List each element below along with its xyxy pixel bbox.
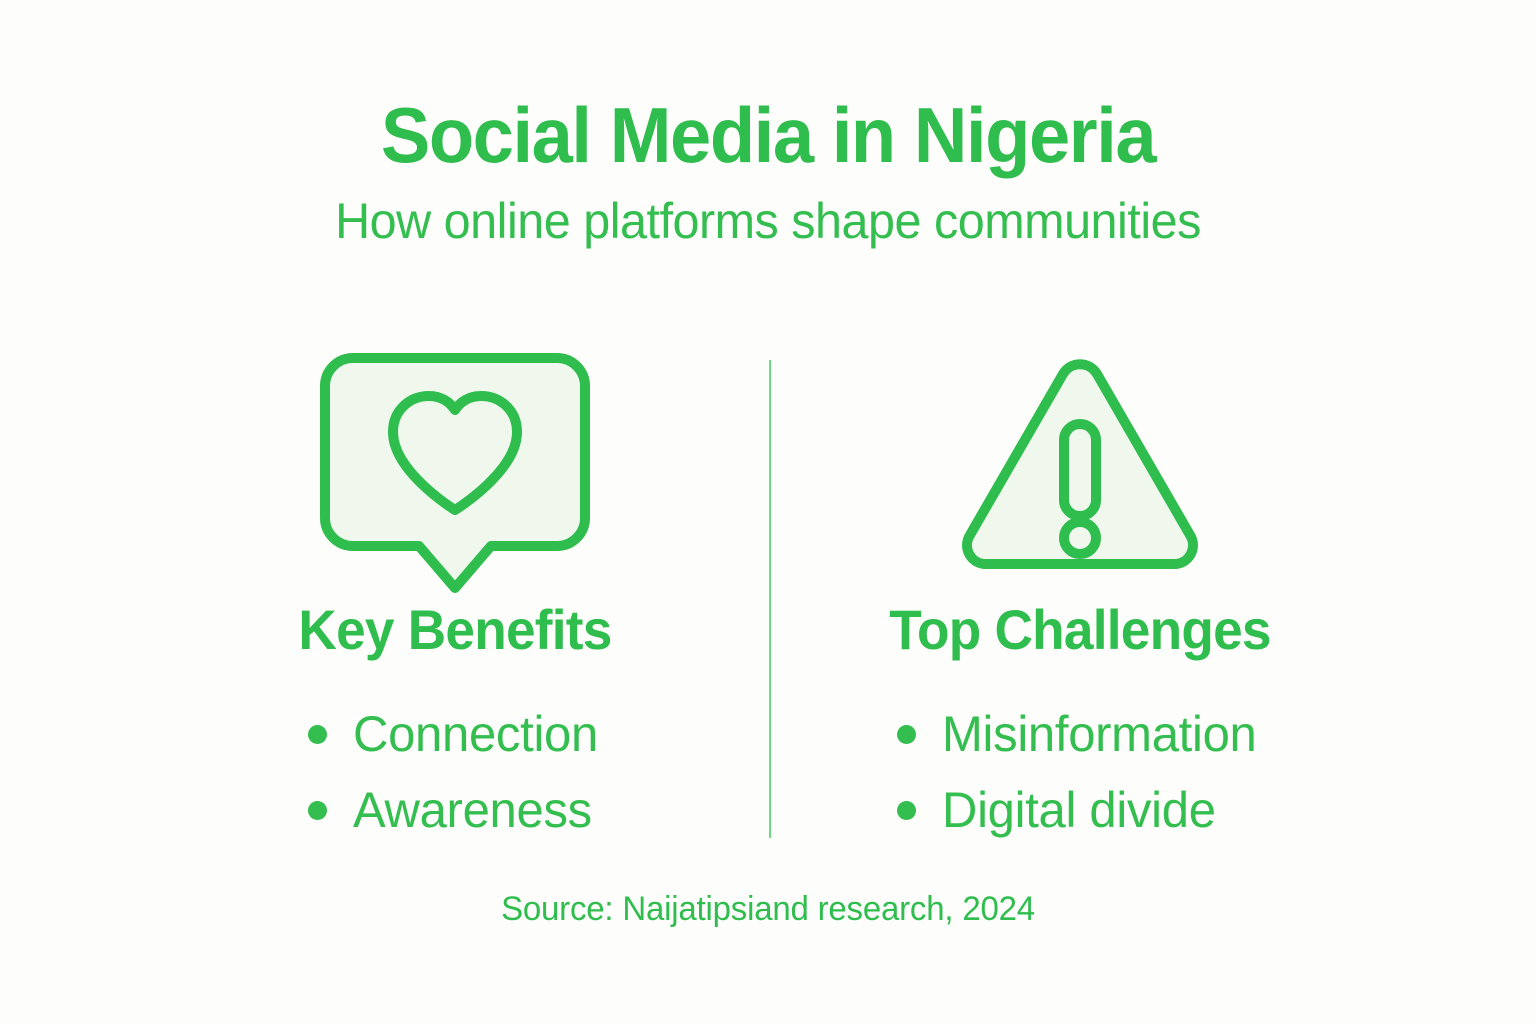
infographic-canvas: Social Media in Nigeria How online platf… [0, 0, 1536, 1024]
list-item-label: Awareness [353, 785, 592, 835]
bullet-dot-icon [897, 801, 916, 820]
benefits-list: Connection Awareness [308, 696, 603, 848]
list-item: Misinformation [897, 696, 1263, 772]
bullet-dot-icon [308, 801, 327, 820]
challenges-list: Misinformation Digital divide [897, 696, 1263, 848]
list-item: Connection [308, 696, 603, 772]
source-citation: Source: Naijatipsiand research, 2024 [23, 890, 1513, 929]
bullet-dot-icon [897, 725, 916, 744]
column-heading-key-benefits: Key Benefits [189, 602, 721, 658]
page-title: Social Media in Nigeria [38, 96, 1497, 174]
header: Social Media in Nigeria How online platf… [0, 96, 1536, 246]
column-heading-top-challenges: Top Challenges [814, 602, 1346, 658]
footer: Source: Naijatipsiand research, 2024 [0, 890, 1536, 929]
column-key-benefits: Key Benefits Connection Awareness [175, 352, 735, 848]
list-item-label: Misinformation [942, 709, 1256, 759]
page-subtitle: How online platforms shape communities [23, 174, 1513, 246]
column-divider [769, 360, 771, 838]
column-top-challenges: Top Challenges Misinformation Digital di… [800, 352, 1360, 848]
list-item-label: Connection [353, 709, 598, 759]
bullet-dot-icon [308, 725, 327, 744]
list-item-label: Digital divide [942, 785, 1216, 835]
speech-bubble-heart-icon [175, 352, 735, 602]
warning-triangle-icon [800, 352, 1360, 602]
columns-section: Key Benefits Connection Awareness [0, 352, 1536, 852]
list-item: Awareness [308, 772, 603, 848]
list-item: Digital divide [897, 772, 1263, 848]
